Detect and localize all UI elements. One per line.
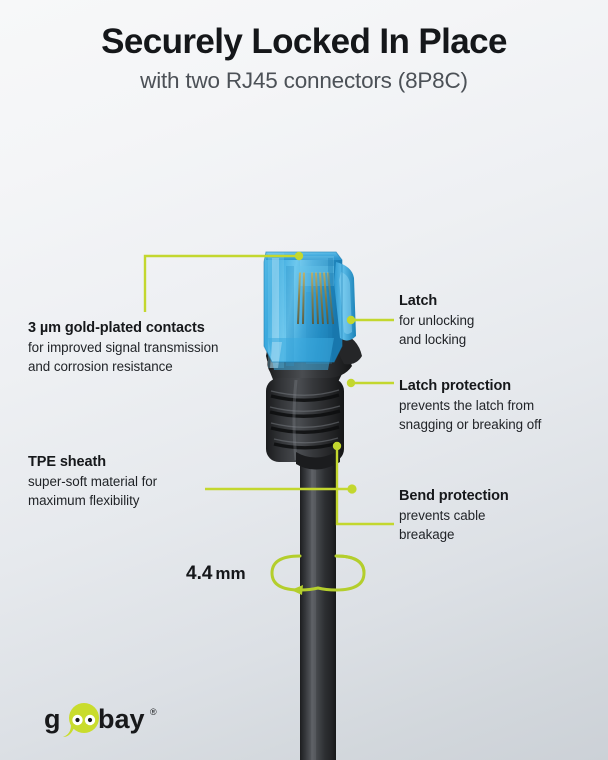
callout-line: prevents the latch from — [399, 396, 541, 415]
callout-latch-protection: Latch protection prevents the latch from… — [399, 376, 541, 434]
callout-line: breakage — [399, 525, 509, 544]
callout-title: 3 µm gold-plated contacts — [28, 318, 218, 338]
callout-line: snagging or breaking off — [399, 415, 541, 434]
logo-trademark: ® — [150, 707, 157, 717]
callout-line: maximum flexibility — [28, 491, 157, 510]
callout-line: prevents cable — [399, 506, 509, 525]
callout-gold-contacts: 3 µm gold-plated contacts for improved s… — [28, 318, 218, 376]
cable-jacket — [300, 455, 336, 760]
callout-line: and corrosion resistance — [28, 357, 218, 376]
callout-line: for unlocking — [399, 311, 474, 330]
callout-tpe-sheath: TPE sheath super-soft material for maxim… — [28, 452, 157, 510]
callout-line: and locking — [399, 330, 474, 349]
product-infographic: Securely Locked In Place with two RJ45 c… — [0, 0, 608, 760]
callout-bend-protection: Bend protection prevents cable breakage — [399, 486, 509, 544]
callout-title: Latch — [399, 291, 474, 311]
logo-text-after: bay — [98, 704, 145, 734]
callout-title: Bend protection — [399, 486, 509, 506]
callout-title: TPE sheath — [28, 452, 157, 472]
diameter-value: 4.4 — [186, 563, 212, 584]
callout-title: Latch protection — [399, 376, 541, 396]
diameter-unit: mm — [215, 564, 245, 583]
diameter-label: 4.4mm — [186, 563, 246, 585]
callout-line: super-soft material for — [28, 472, 157, 491]
callout-latch: Latch for unlocking and locking — [399, 291, 474, 349]
goobay-logo: g bay ® — [44, 703, 174, 737]
callout-line: for improved signal transmission — [28, 338, 218, 357]
logo-text-before: g — [44, 704, 61, 734]
